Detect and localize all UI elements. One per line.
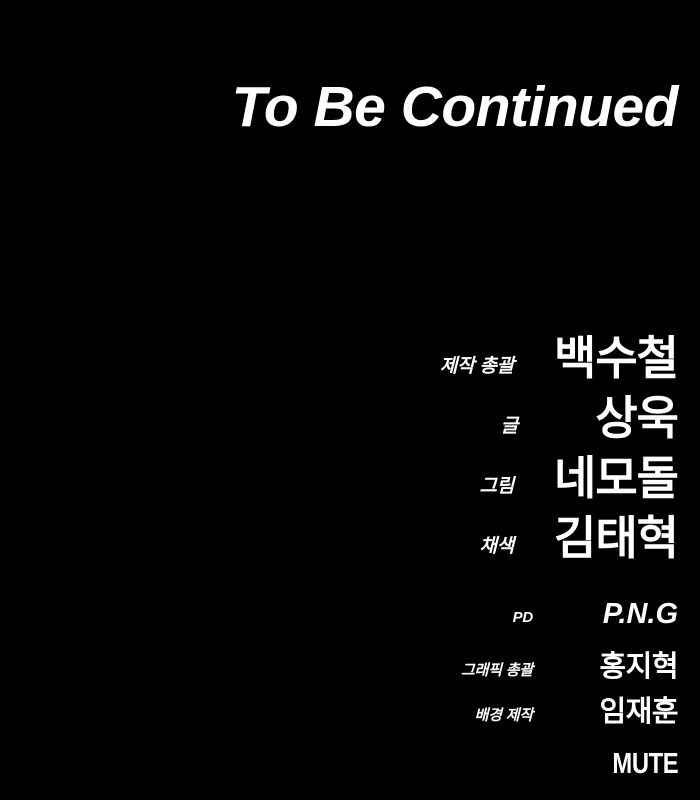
credits-page: To Be Continued 제작 총괄 백수철 글 상욱 그림 네모돌 채색… xyxy=(0,0,700,800)
credit-name-value: 홍지혁 xyxy=(583,643,678,685)
credit-role-label: 채색 xyxy=(479,531,554,558)
credit-role-label: 그림 xyxy=(479,471,554,498)
credit-role-label: 배경 제작 xyxy=(475,704,583,725)
credit-row: 글 상욱 xyxy=(78,382,678,442)
credit-role-label: 제작 총괄 xyxy=(440,351,554,378)
credits-main-list: 제작 총괄 백수철 글 상욱 그림 네모돌 채색 김태혁 xyxy=(78,322,678,562)
page-title: To Be Continued xyxy=(0,78,678,138)
credit-row: 배경 제작 임재훈 xyxy=(78,688,678,733)
credit-name-value: 김태혁 xyxy=(554,502,678,568)
credit-name-value: 임재훈 xyxy=(583,688,678,730)
credit-name-value: 백수철 xyxy=(554,322,678,388)
credit-row: 그래픽 총괄 홍지혁 xyxy=(78,643,678,688)
credit-name-value: 상욱 xyxy=(558,382,678,448)
credit-role-label: PD xyxy=(513,609,583,626)
mute-studio-logo: MUTE xyxy=(612,750,678,779)
credit-name-value: 네모돌 xyxy=(554,442,678,508)
credits-sub-list: PD P.N.G 그래픽 총괄 홍지혁 배경 제작 임재훈 xyxy=(78,598,678,733)
credit-role-label: 글 xyxy=(501,411,558,438)
credit-row: PD P.N.G xyxy=(78,598,678,643)
credit-row: 채색 김태혁 xyxy=(78,502,678,562)
credit-row: 제작 총괄 백수철 xyxy=(78,322,678,382)
credit-name-value: P.N.G xyxy=(583,598,678,631)
credit-role-label: 그래픽 총괄 xyxy=(461,659,583,680)
credit-row: 그림 네모돌 xyxy=(78,442,678,502)
